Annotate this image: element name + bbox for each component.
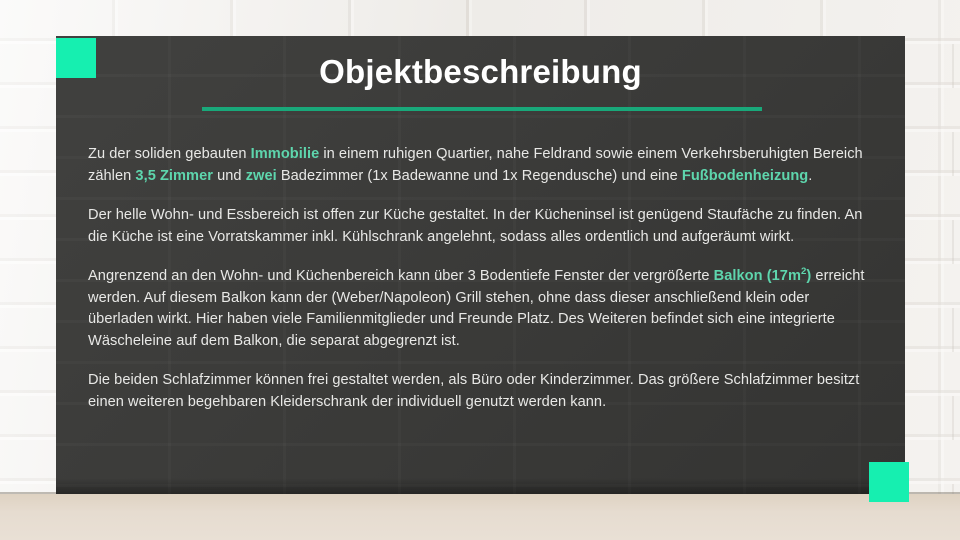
paragraph-p2: Der helle Wohn- und Essbereich ist offen… <box>88 205 874 248</box>
description-body: Zu der soliden gebauten Immobilie in ein… <box>88 144 874 413</box>
accent-square-bottom-right <box>869 462 909 502</box>
highlighted-term: Immobilie <box>251 146 320 162</box>
highlighted-term: (17m2) <box>767 268 812 284</box>
highlighted-term: zwei <box>246 168 277 184</box>
highlighted-term: Fußbodenheizung <box>682 168 808 184</box>
highlighted-term: Balkon <box>714 268 763 284</box>
highlighted-term: 3,5 Zimmer <box>135 168 213 184</box>
floor-background <box>0 494 960 540</box>
paragraph-p1: Zu der soliden gebauten Immobilie in ein… <box>88 144 874 187</box>
paragraph-p4: Die beiden Schlafzimmer können frei gest… <box>88 370 874 413</box>
superscript-two: 2 <box>801 266 806 277</box>
title-underline-rule <box>202 107 762 111</box>
page-title: Objektbeschreibung <box>56 52 905 92</box>
paragraph-p3: Angrenzend an den Wohn- und Küchenbereic… <box>88 266 874 352</box>
presentation-slide: Objektbeschreibung Zu der soliden gebaut… <box>0 0 960 540</box>
